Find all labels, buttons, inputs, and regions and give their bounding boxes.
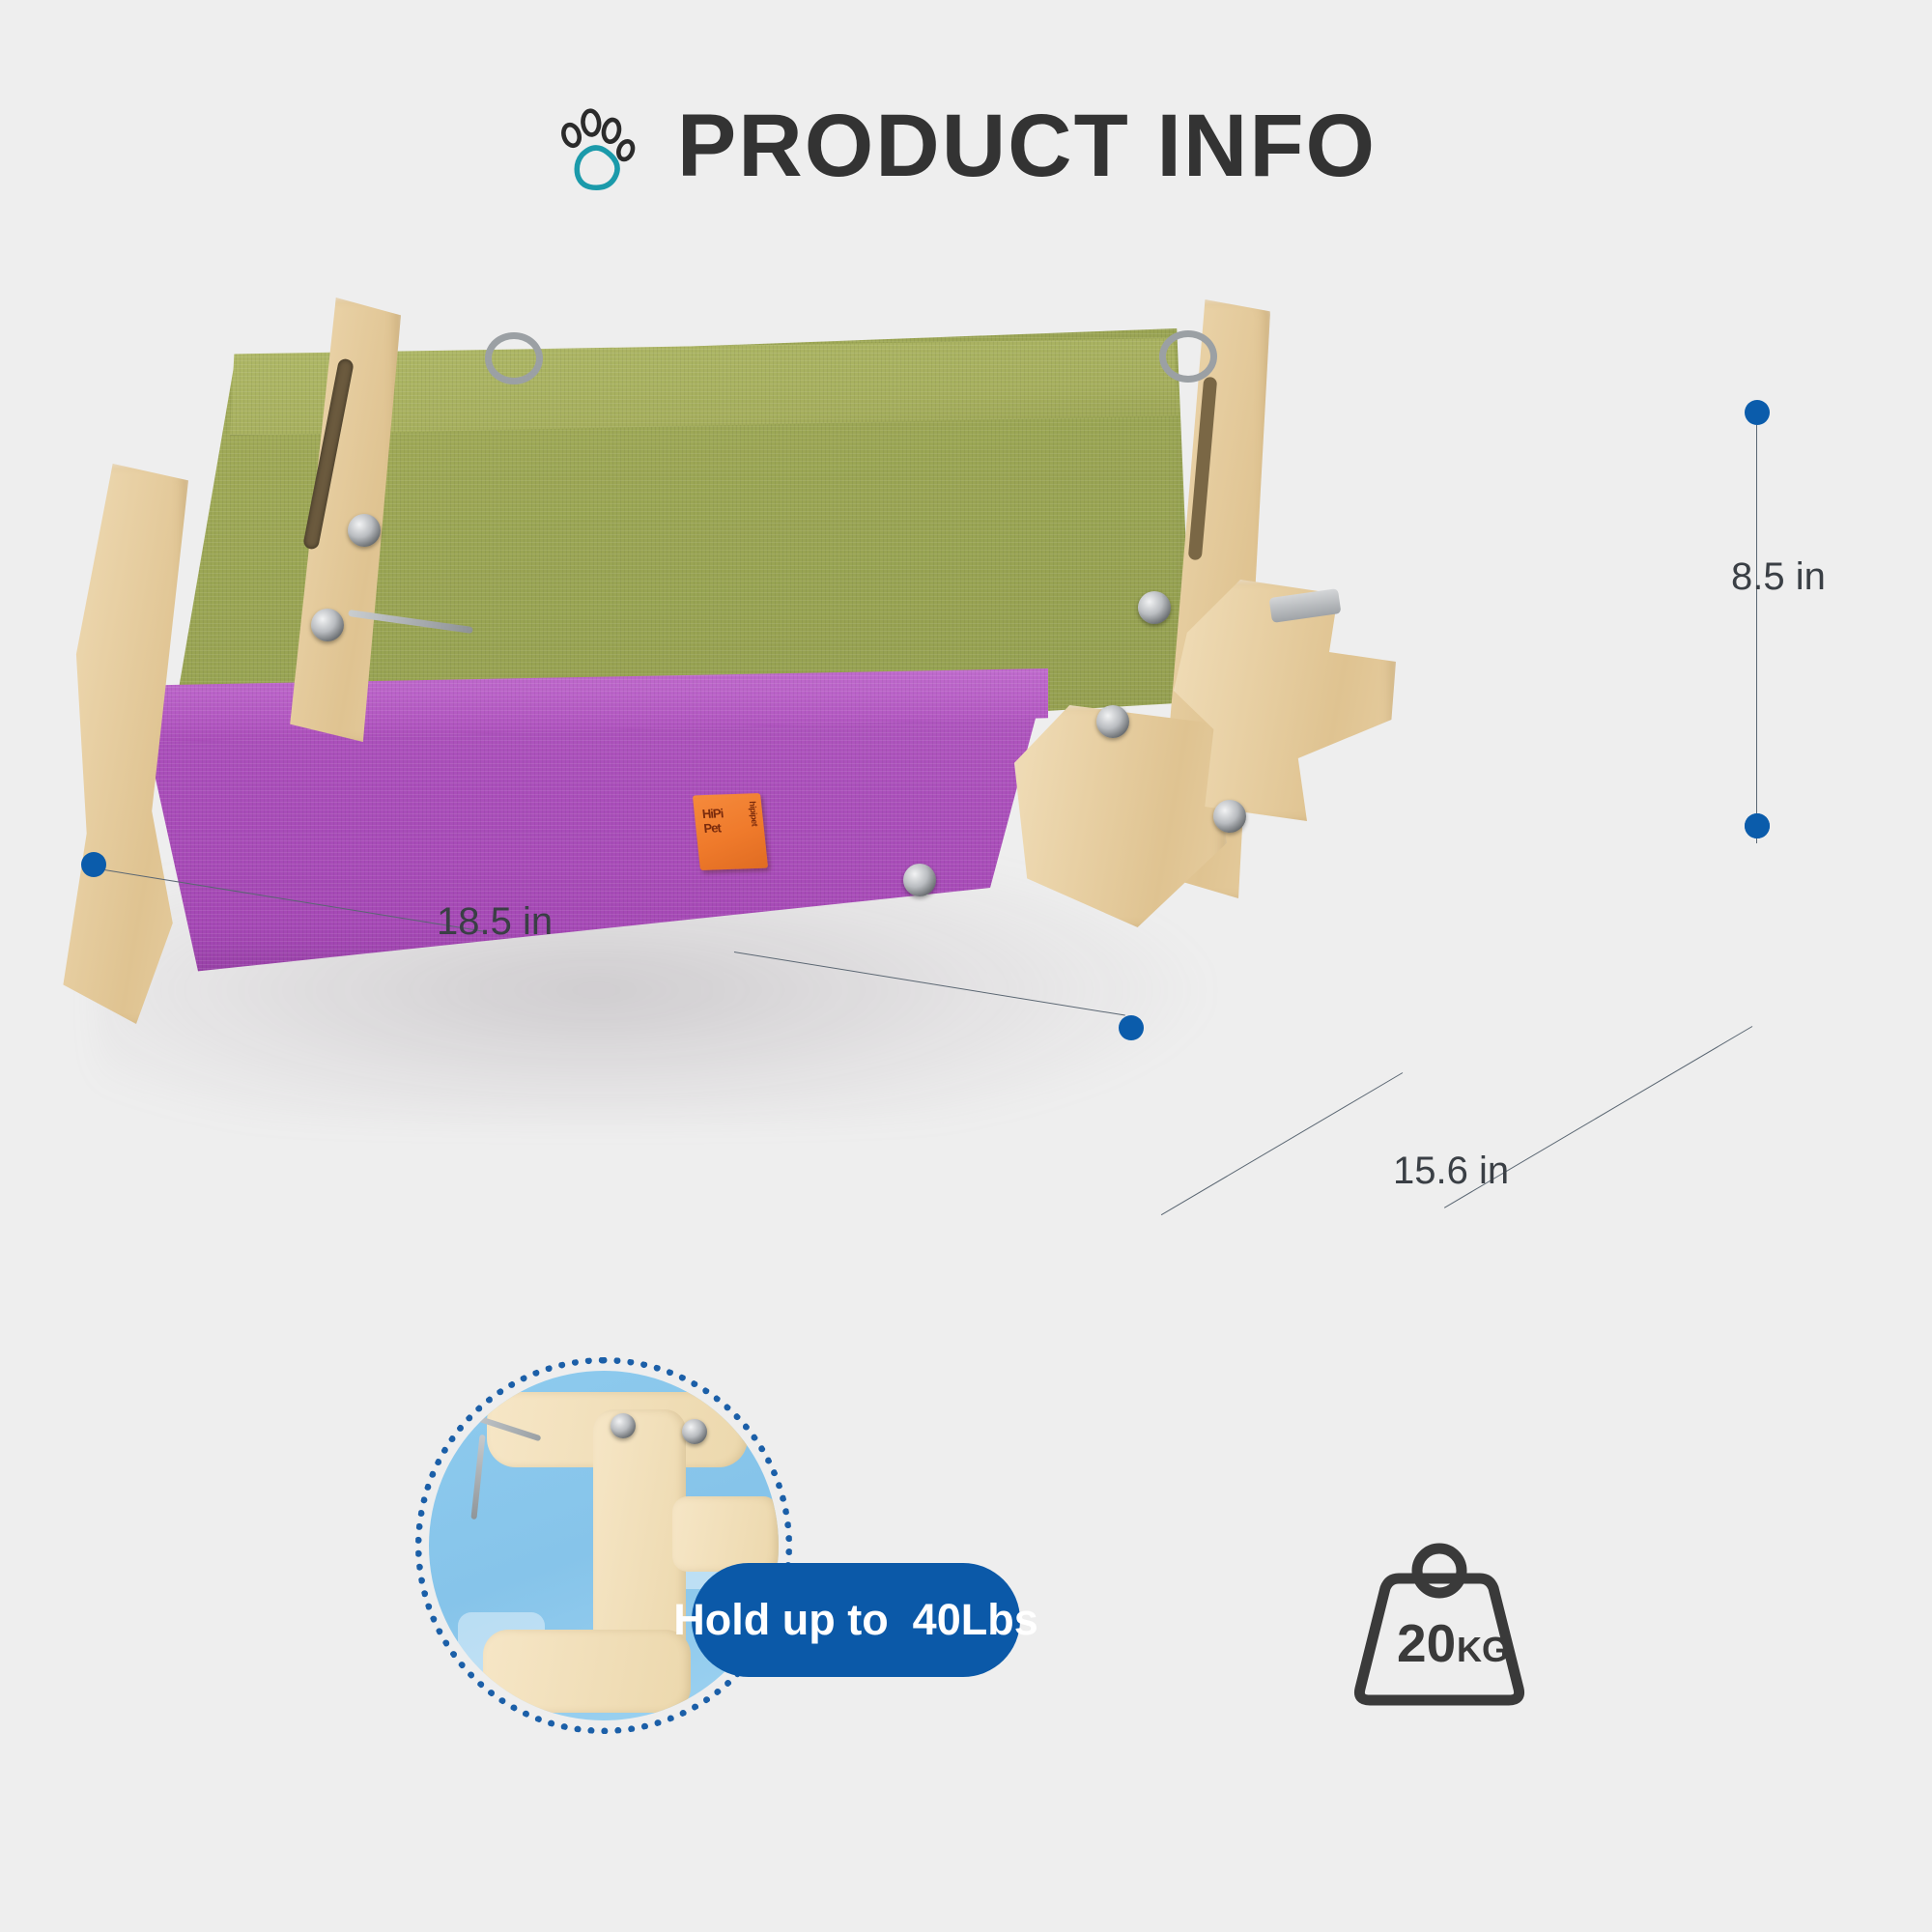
dimension-endpoint-dot: [81, 852, 106, 877]
dimension-label-depth: 15.6 in: [1393, 1150, 1509, 1193]
weight-unit: KG: [1457, 1630, 1509, 1669]
rivet: [1138, 591, 1171, 624]
dotted-circle-border: [415, 1357, 792, 1734]
dimension-label-width: 18.5 in: [437, 900, 553, 944]
rivet: [1096, 705, 1129, 738]
dimension-endpoint-dot: [1119, 1015, 1144, 1040]
dimension-endpoint-dot: [1745, 400, 1770, 425]
grommet-ring-right: [1159, 330, 1217, 383]
weight-value: 20: [1397, 1613, 1456, 1673]
weight-icon: 20 KG: [1343, 1536, 1536, 1719]
rivet: [348, 514, 381, 547]
page-header: PRODUCT INFO: [0, 101, 1932, 190]
capacity-badge: Hold up to 40Lbs: [692, 1563, 1020, 1677]
rivet: [311, 609, 344, 641]
grommet-ring-left: [485, 332, 543, 384]
brand-glyphs: HiPi Pet: [701, 806, 724, 836]
brand-vertical-text: hipipet: [748, 801, 760, 826]
product-photo: HiPi Pet hipipet: [58, 290, 1314, 1082]
paw-icon: [555, 101, 644, 190]
rivet: [1213, 800, 1246, 833]
page-title: PRODUCT INFO: [677, 101, 1377, 190]
product-info-page: PRODUCT INFO: [0, 0, 1932, 1932]
dimension-label-height: 8.5 in: [1731, 555, 1826, 599]
rivet: [903, 864, 936, 896]
dimension-endpoint-dot: [1745, 813, 1770, 838]
dimension-line: [1756, 425, 1757, 653]
capacity-label: Hold up to 40Lbs: [673, 1595, 1038, 1645]
detail-inset: [415, 1357, 792, 1734]
brand-label-tag: HiPi Pet hipipet: [693, 793, 768, 870]
